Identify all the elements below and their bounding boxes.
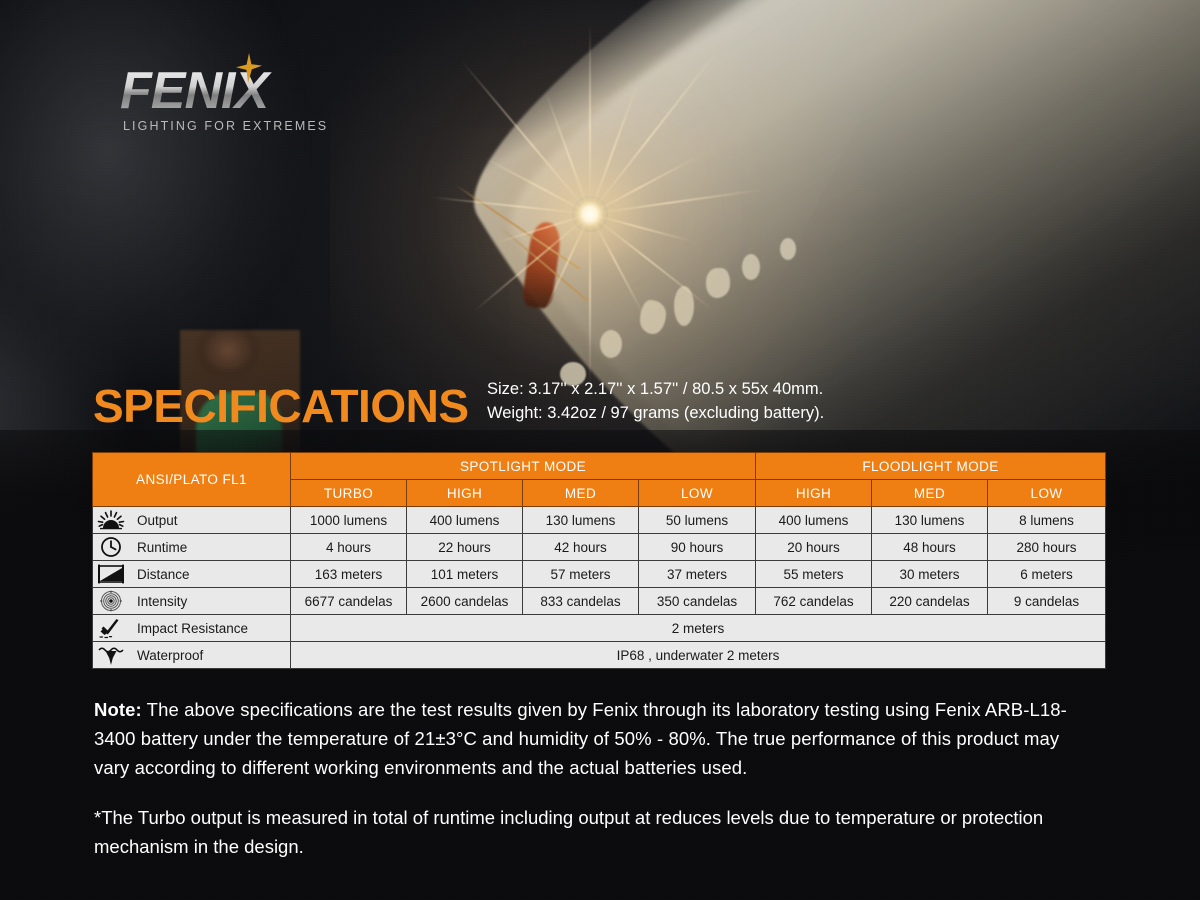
row-label-runtime: Runtime [93,534,291,561]
cell-distance-floodlight-med: 30 meters [872,561,988,588]
cell-output-spotlight-low: 50 lumens [639,507,756,534]
row-label-text: Runtime [137,540,187,555]
row-label-impact-resistance: Impact Resistance [93,615,291,642]
column-header-spotlight-high: HIGH [407,480,523,507]
cell-output-spotlight-turbo: 1000 lumens [291,507,407,534]
cell-distance-floodlight-high: 55 meters [756,561,872,588]
cell-distance-spotlight-turbo: 163 meters [291,561,407,588]
cell-runtime-spotlight-low: 90 hours [639,534,756,561]
column-header-floodlight-med: MED [872,480,988,507]
cell-runtime-spotlight-high: 22 hours [407,534,523,561]
cell-distance-floodlight-low: 6 meters [988,561,1106,588]
cell-intensity-floodlight-low: 9 candelas [988,588,1106,615]
cell-output-floodlight-med: 130 lumens [872,507,988,534]
note-label: Note: [94,699,142,720]
size-weight-block: Size: 3.17'' x 2.17'' x 1.57'' / 80.5 x … [487,378,824,429]
clock-icon [93,536,129,558]
column-header-spotlight-turbo: TURBO [291,480,407,507]
cell-intensity-spotlight-turbo: 6677 candelas [291,588,407,615]
cell-runtime-floodlight-high: 20 hours [756,534,872,561]
fenix-logo: FENIX LIGHTING FOR EXTREMES [120,65,328,133]
cell-intensity-floodlight-med: 220 candelas [872,588,988,615]
cell-waterproof-value: IP68 , underwater 2 meters [291,642,1106,669]
cell-output-floodlight-low: 8 lumens [988,507,1106,534]
column-header-spotlight-low: LOW [639,480,756,507]
brand-tagline: LIGHTING FOR EXTREMES [123,119,328,133]
table-row: Impact Resistance 2 meters [93,615,1106,642]
cell-runtime-floodlight-low: 280 hours [988,534,1106,561]
table-corner-label: ANSI/PLATO FL1 [93,453,291,507]
cell-intensity-spotlight-med: 833 candelas [523,588,639,615]
row-label-text: Distance [137,567,190,582]
cell-impact-resistance-value: 2 meters [291,615,1106,642]
column-header-spotlight-med: MED [523,480,639,507]
row-label-text: Output [137,513,178,528]
cell-distance-spotlight-low: 37 meters [639,561,756,588]
table-row: Output 1000 lumens 400 lumens 130 lumens… [93,507,1106,534]
cell-distance-spotlight-high: 101 meters [407,561,523,588]
table-row: Intensity 6677 candelas 2600 candelas 83… [93,588,1106,615]
cell-intensity-spotlight-high: 2600 candelas [407,588,523,615]
brand-name: FENIX [120,65,328,117]
group-header-spotlight: SPOTLIGHT MODE [291,453,756,480]
table-header-group-row: ANSI/PLATO FL1 SPOTLIGHT MODE FLOODLIGHT… [93,453,1106,480]
cell-distance-spotlight-med: 57 meters [523,561,639,588]
row-label-text: Impact Resistance [137,621,248,636]
size-line: Size: 3.17'' x 2.17'' x 1.57'' / 80.5 x … [487,378,824,402]
row-label-text: Waterproof [137,648,203,663]
impact-drop-icon [93,617,129,639]
sunburst-icon [93,509,129,531]
waterproof-icon [93,644,129,666]
column-header-floodlight-high: HIGH [756,480,872,507]
group-header-floodlight: FLOODLIGHT MODE [756,453,1106,480]
note-paragraph: Note: The above specifications are the t… [94,695,1094,783]
cell-runtime-floodlight-med: 48 hours [872,534,988,561]
page-title: SPECIFICATIONS [93,383,469,429]
cell-output-floodlight-high: 400 lumens [756,507,872,534]
table-row: Distance 163 meters 101 meters 57 meters… [93,561,1106,588]
weight-line: Weight: 3.42oz / 97 grams (excluding bat… [487,402,824,426]
cell-output-spotlight-med: 130 lumens [523,507,639,534]
cell-runtime-spotlight-med: 42 hours [523,534,639,561]
notes-block: Note: The above specifications are the t… [94,695,1094,861]
row-label-intensity: Intensity [93,588,291,615]
specifications-heading: SPECIFICATIONS Size: 3.17'' x 2.17'' x 1… [93,378,824,429]
specifications-table: ANSI/PLATO FL1 SPOTLIGHT MODE FLOODLIGHT… [92,452,1106,669]
row-label-text: Intensity [137,594,187,609]
table-row: Runtime 4 hours 22 hours 42 hours 90 hou… [93,534,1106,561]
star-icon [236,53,262,83]
row-label-waterproof: Waterproof [93,642,291,669]
note-body: The above specifications are the test re… [94,699,1067,778]
cell-runtime-spotlight-turbo: 4 hours [291,534,407,561]
cell-intensity-spotlight-low: 350 candelas [639,588,756,615]
beam-distance-icon [93,563,129,585]
row-label-output: Output [93,507,291,534]
table-row: Waterproof IP68 , underwater 2 meters [93,642,1106,669]
column-header-floodlight-low: LOW [988,480,1106,507]
cell-intensity-floodlight-high: 762 candelas [756,588,872,615]
intensity-target-icon [93,590,129,612]
cell-output-spotlight-high: 400 lumens [407,507,523,534]
row-label-distance: Distance [93,561,291,588]
footnote-paragraph: *The Turbo output is measured in total o… [94,803,1094,861]
